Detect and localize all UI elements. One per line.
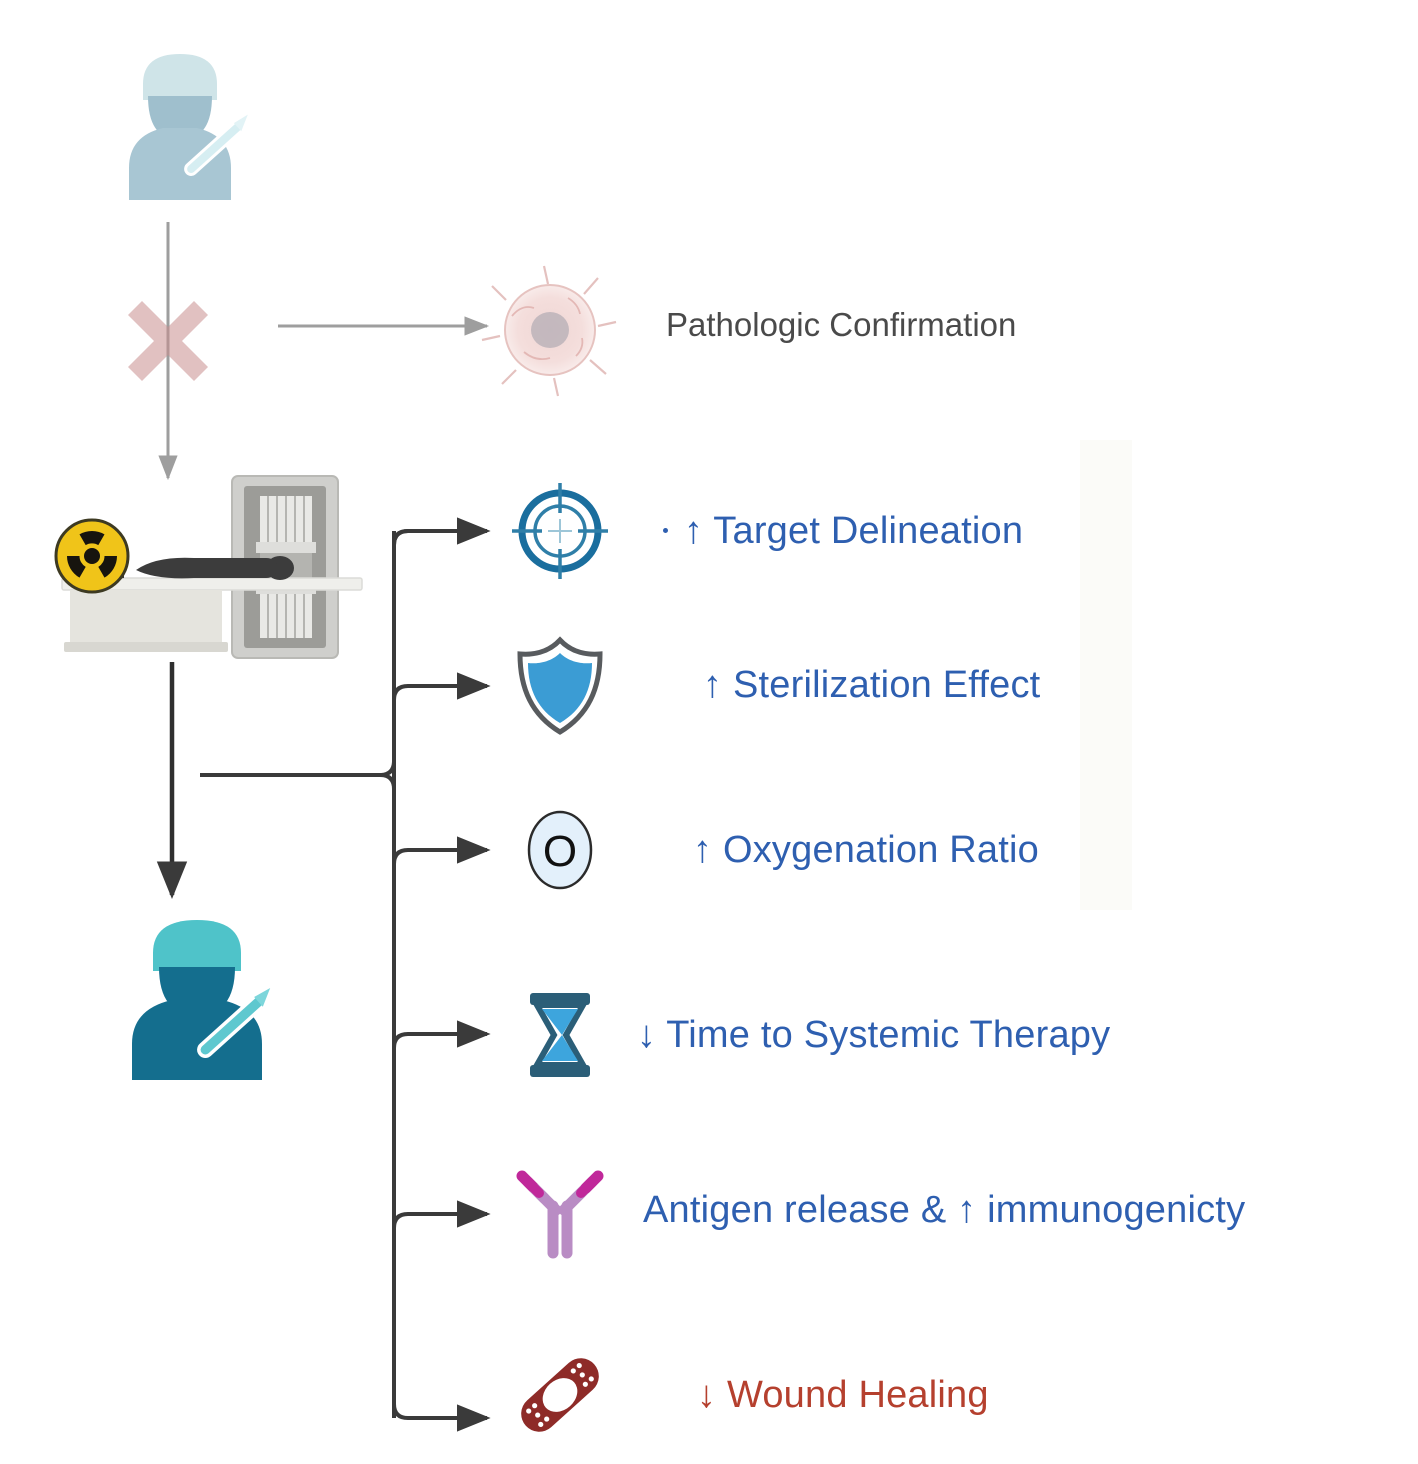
outcome-row-oxygenation-ratio: O ↑ Oxygenation Ratio	[505, 795, 1039, 905]
outcome-label-antigen-release: Antigen release & ↑ immunogenicty	[643, 1189, 1245, 1232]
shield-icon	[505, 630, 615, 740]
oxygen-icon: O	[505, 795, 615, 905]
oxygen-letter: O	[543, 827, 577, 876]
outcome-text: Wound Healing	[727, 1374, 989, 1416]
arrow-down-icon: ↓	[697, 1374, 716, 1416]
pathologic-confirmation-label: Pathologic Confirmation	[666, 306, 1016, 344]
arrow-down-icon: ↓	[637, 1014, 656, 1056]
radiation-icon	[54, 518, 130, 594]
outcome-row-wound-healing: ↓ Wound Healing	[505, 1340, 989, 1450]
outcome-text: Sterilization Effect	[733, 664, 1040, 706]
arrow-up-icon: ↑	[693, 829, 712, 871]
outcome-text: immunogenicty	[987, 1189, 1245, 1231]
outcome-text: Target Delineation	[713, 510, 1023, 552]
diagram-canvas: Pathologic Confirmation ↑ Ta	[0, 0, 1418, 1464]
outcome-label-time-to-systemic-therapy: ↓ Time to Systemic Therapy	[637, 1014, 1110, 1057]
outcome-row-time-to-systemic-therapy: ↓ Time to Systemic Therapy	[505, 980, 1110, 1090]
arrow-up-icon: ↑	[703, 664, 722, 706]
arrow-up-icon: ↑	[957, 1189, 976, 1231]
antibody-icon	[505, 1155, 615, 1265]
cell-icon	[482, 266, 616, 396]
outcome-row-target-delineation: ↑ Target Delineation	[505, 476, 1023, 586]
outcome-label-sterilization-effect: ↑ Sterilization Effect	[703, 664, 1040, 707]
outcome-text-before: Antigen release &	[643, 1189, 946, 1231]
outcome-label-oxygenation-ratio: ↑ Oxygenation Ratio	[693, 829, 1039, 872]
outcome-text: Oxygenation Ratio	[723, 829, 1039, 871]
outcome-text: Time to Systemic Therapy	[666, 1014, 1110, 1056]
outcome-label-target-delineation: ↑ Target Delineation	[663, 510, 1023, 553]
target-crosshair-icon	[505, 476, 615, 586]
bullet-dot	[663, 528, 668, 533]
outcome-label-wound-healing: ↓ Wound Healing	[697, 1374, 989, 1417]
cross-icon	[128, 301, 208, 381]
arrow-up-icon: ↑	[684, 510, 703, 552]
outcome-row-antigen-release: Antigen release & ↑ immunogenicty	[505, 1155, 1245, 1265]
background-band	[1080, 440, 1132, 910]
hourglass-icon	[505, 980, 615, 1090]
outcome-row-sterilization-effect: ↑ Sterilization Effect	[505, 630, 1040, 740]
surgeon-bottom-icon	[110, 905, 285, 1080]
bandage-icon	[505, 1340, 615, 1450]
surgeon-top-icon	[105, 40, 255, 200]
